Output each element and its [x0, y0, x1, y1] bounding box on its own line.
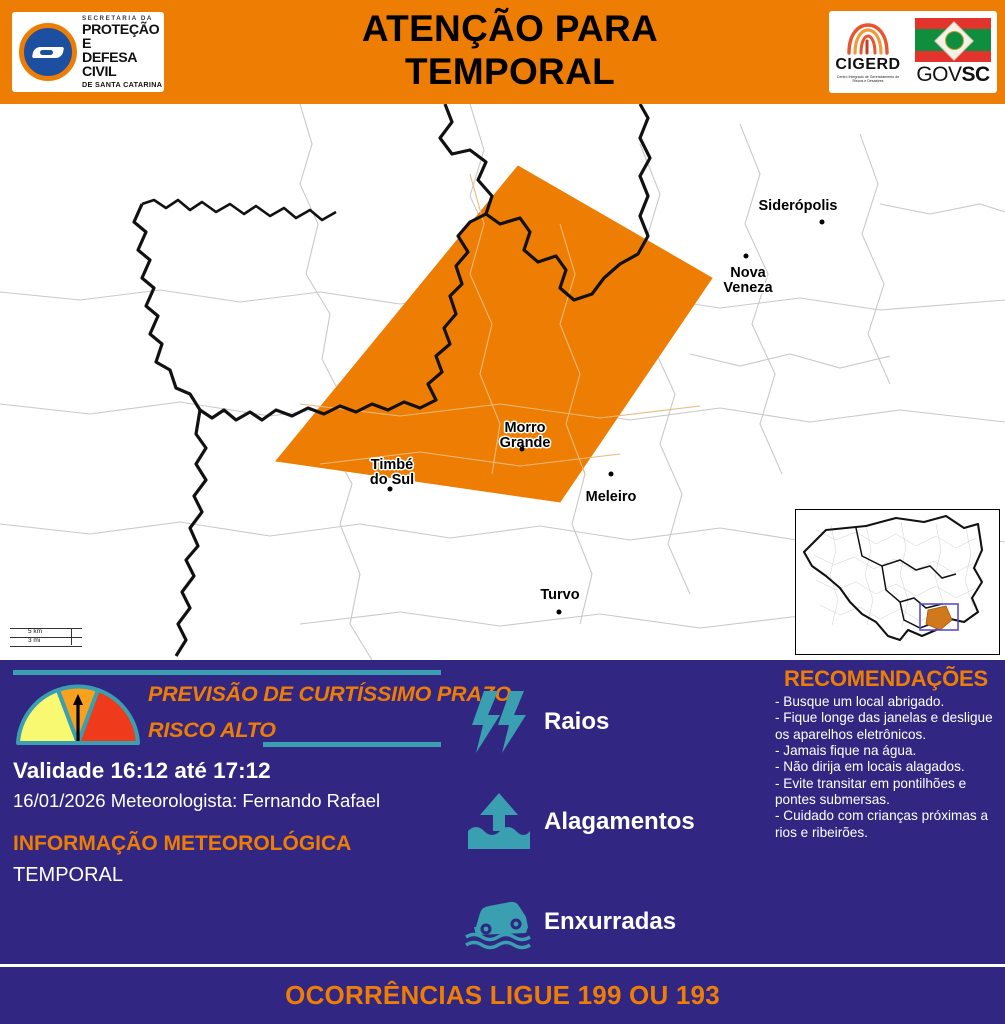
hazard-label-enxurradas: Enxurradas — [544, 908, 676, 936]
locator-inset-map — [795, 509, 1000, 655]
city-label-nova-veneza: NovaVeneza — [723, 266, 772, 296]
hazard-item-enxurradas: Enxurradas — [462, 872, 762, 972]
recommendations-list: - Busque um local abrigado. - Fique long… — [775, 694, 997, 841]
meteorological-info-value: TEMPORAL — [13, 864, 123, 887]
flood-arrow-icon — [462, 791, 536, 853]
logo-line-secretaria: SECRETARIA DA — [82, 16, 164, 22]
risk-gauge — [14, 681, 142, 747]
alert-area-polygon — [276, 166, 712, 502]
city-dot-morro-grande — [520, 447, 525, 452]
hazard-item-alagamentos: Alagamentos — [462, 772, 762, 872]
govsc-wordmark: GOVSC — [911, 63, 995, 87]
defesa-civil-emblem-icon — [19, 23, 77, 81]
city-label-turvo: Turvo — [540, 588, 579, 603]
recommendation-item: - Fique longe das janelas e desligue os … — [775, 710, 997, 743]
recommendation-item: - Busque um local abrigado. — [775, 694, 997, 710]
recommendation-item: - Cuidado com crianças próximas a rios e… — [775, 808, 997, 841]
car-flood-icon — [462, 893, 536, 951]
recommendations-section: RECOMENDAÇÕES - Busque um local abrigado… — [775, 668, 997, 841]
city-dot-turvo — [557, 610, 562, 615]
city-label-timbe-do-sul: Timbédo Sul — [370, 458, 414, 488]
page-title-line2: TEMPORAL — [250, 51, 770, 94]
emergency-phone-text: OCORRÊNCIAS LIGUE 199 OU 193 — [285, 980, 720, 1011]
city-dot-meleiro — [609, 472, 614, 477]
meteorologist-text: 16/01/2026 Meteorologista: Fernando Rafa… — [13, 790, 380, 812]
cigerd-subtitle: Centro Integrado de Gerenciamento de Ris… — [831, 75, 905, 84]
city-dot-timbe-do-sul — [388, 487, 393, 492]
meteorological-info-label: INFORMAÇÃO METEOROLÓGICA — [13, 832, 351, 856]
city-label-sideropolis: Siderópolis — [759, 199, 838, 214]
alert-map[interactable]: Siderópolis NovaVeneza MorroGrande Timbé… — [0, 104, 1005, 660]
forecast-label: PREVISÃO DE CURTÍSSIMO PRAZO — [148, 682, 511, 707]
recommendations-title: RECOMENDAÇÕES — [775, 668, 997, 690]
hazard-list: Raios Alagamentos — [462, 672, 762, 972]
hazard-item-raios: Raios — [462, 672, 762, 772]
scale-km-label: 5 km — [28, 628, 42, 635]
footer-bar: OCORRÊNCIAS LIGUE 199 OU 193 — [0, 967, 1005, 1024]
cigerd-name: CIGERD — [831, 57, 905, 73]
govsc-logo: GOVSC — [911, 18, 995, 87]
validity-text: Validade 16:12 até 17:12 — [13, 758, 271, 784]
map-scale-bar: 5 km 3 mi — [10, 628, 82, 647]
panel-divider-top — [13, 670, 441, 675]
hazard-label-raios: Raios — [544, 708, 609, 736]
city-label-morro-grande: MorroGrande — [500, 421, 551, 451]
cigerd-logo: CIGERD Centro Integrado de Gerenciamento… — [831, 21, 905, 84]
risk-level-label: RISCO ALTO — [148, 718, 276, 743]
gov-prefix: GOV — [916, 63, 961, 86]
panel-divider-risk — [263, 742, 441, 747]
partner-logos: CIGERD Centro Integrado de Gerenciamento… — [829, 11, 997, 93]
logo-line-defesa-civil: DEFESA CIVIL — [82, 51, 164, 79]
city-label-meleiro: Meleiro — [586, 490, 637, 505]
hazard-label-alagamentos: Alagamentos — [544, 808, 695, 836]
recommendation-item: - Jamais fique na água. — [775, 743, 997, 759]
logo-line-santa-catarina: DE SANTA CATARINA — [82, 81, 164, 88]
gov-suffix: SC — [962, 63, 990, 86]
city-dot-nova-veneza — [744, 254, 749, 259]
alert-poster: SECRETARIA DA PROTEÇÃO E DEFESA CIVIL DE… — [0, 0, 1005, 1024]
page-title: ATENÇÃO PARA TEMPORAL — [250, 8, 770, 94]
logo-line-protecao: PROTEÇÃO E — [82, 23, 164, 51]
scale-mi-label: 3 mi — [28, 637, 40, 644]
page-title-line1: ATENÇÃO PARA — [250, 8, 770, 51]
city-dot-sideropolis — [820, 220, 825, 225]
santa-catarina-flag-icon — [915, 18, 991, 62]
recommendation-item: - Evite transitar em pontilhões e pontes… — [775, 776, 997, 809]
header-bar: SECRETARIA DA PROTEÇÃO E DEFESA CIVIL DE… — [0, 0, 1005, 104]
recommendation-item: - Não dirija em locais alagados. — [775, 759, 997, 775]
lightning-icon — [462, 689, 536, 755]
defesa-civil-logo: SECRETARIA DA PROTEÇÃO E DEFESA CIVIL DE… — [12, 12, 164, 92]
cigerd-waves-icon — [831, 21, 905, 57]
